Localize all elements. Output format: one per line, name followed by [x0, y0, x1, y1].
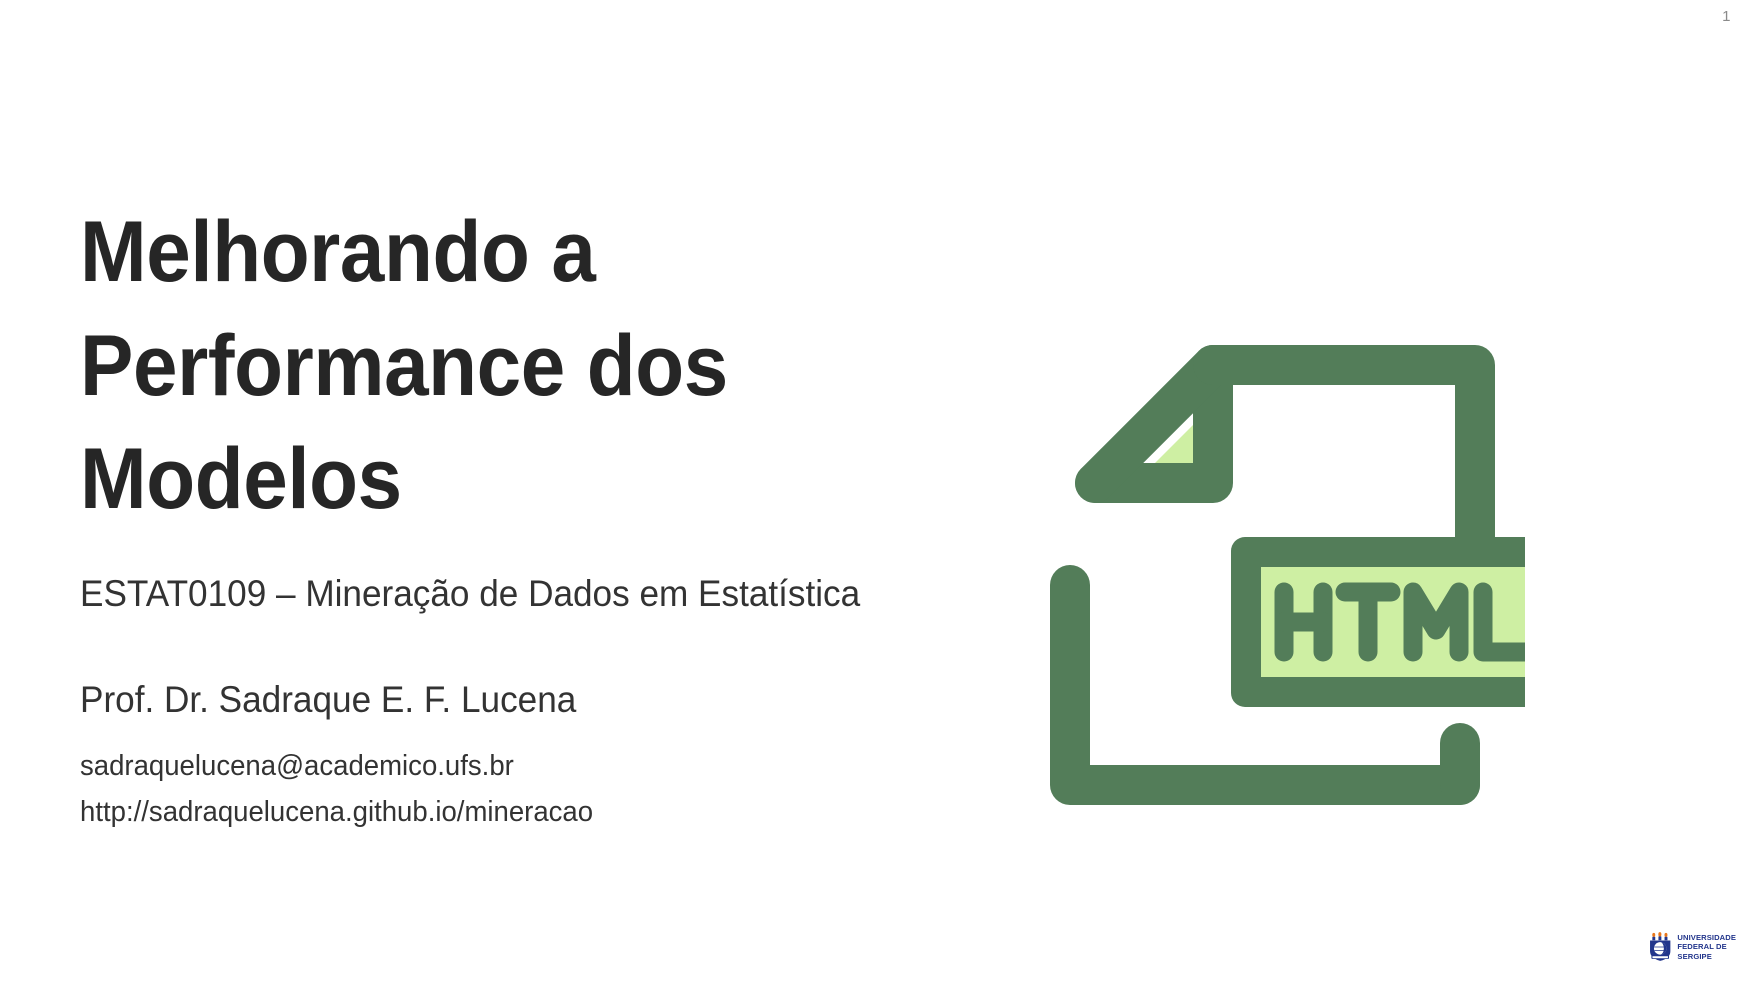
- course-website-url: http://sadraquelucena.github.io/mineraca…: [80, 789, 916, 835]
- html-badge-label: [1284, 592, 1524, 652]
- author-name: Prof. Dr. Sadraque E. F. Lucena: [80, 677, 916, 723]
- torch-flames: [1652, 932, 1667, 940]
- title-slide: 1 Melhorando a Performance dos Modelos E…: [0, 0, 1745, 982]
- page-title: Melhorando a Performance dos Modelos: [80, 196, 898, 537]
- ufs-wordmark-line-1: UNIVERSIDADE: [1677, 933, 1736, 942]
- ufs-wordmark: UNIVERSIDADE FEDERAL DE SERGIPE: [1677, 933, 1736, 961]
- ufs-wordmark-line-2: FEDERAL DE: [1677, 942, 1736, 951]
- ufs-wordmark-line-3: SERGIPE: [1677, 952, 1736, 961]
- contact-block: sadraquelucena@academico.ufs.br http://s…: [80, 743, 916, 836]
- author-email: sadraquelucena@academico.ufs.br: [80, 743, 916, 789]
- course-subtitle: ESTAT0109 – Mineração de Dados em Estatí…: [80, 571, 916, 617]
- ufs-crest-icon: [1648, 925, 1672, 969]
- html-file-icon: [1035, 330, 1525, 820]
- ufs-university-logo: UNIVERSIDADE FEDERAL DE SERGIPE: [1648, 924, 1736, 970]
- page-number: 1: [1722, 8, 1731, 25]
- title-text-block: Melhorando a Performance dos Modelos EST…: [80, 196, 960, 836]
